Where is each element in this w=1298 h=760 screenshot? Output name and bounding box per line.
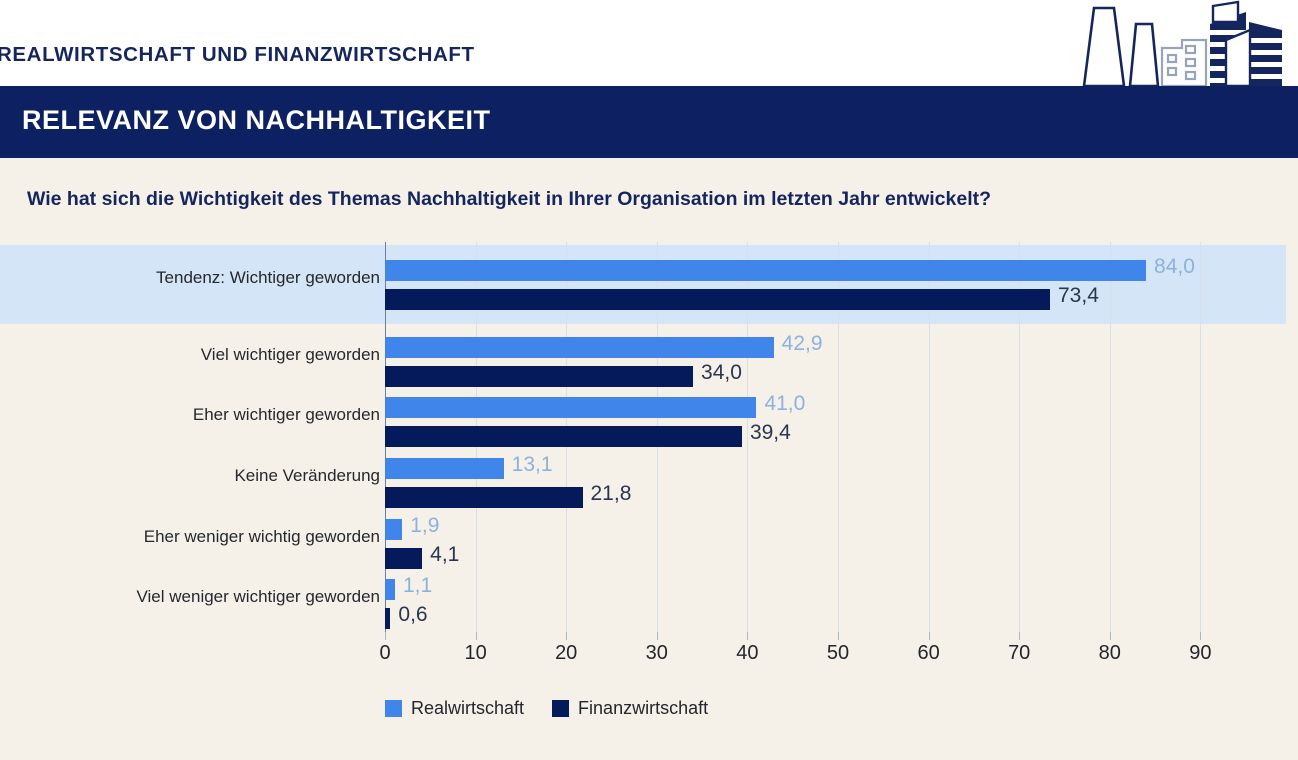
x-tick-label-70: 70 <box>1008 642 1030 665</box>
legend-swatch-icon <box>385 700 402 717</box>
axis-tick-40 <box>747 632 748 640</box>
bar-real <box>385 519 402 540</box>
axis-tick-30 <box>657 632 658 640</box>
legend-swatch-icon <box>552 700 569 717</box>
bar-chart: 0102030405060708090%84,042,941,013,11,91… <box>0 242 1298 682</box>
bar-real <box>385 397 756 418</box>
bar-value-label: 73,4 <box>1058 284 1099 308</box>
bar-finanz <box>385 426 742 447</box>
axis-tick-0 <box>385 632 386 640</box>
category-label: Eher weniger wichtig geworden <box>144 527 380 547</box>
bar-value-label: 42,9 <box>782 332 823 356</box>
bar-real <box>385 260 1146 281</box>
bar-real <box>385 458 504 479</box>
category-label: Tendenz: Wichtiger geworden <box>156 268 380 288</box>
bar-real <box>385 579 395 600</box>
x-tick-label-80: 80 <box>1099 642 1121 665</box>
bar-value-label: 0,6 <box>398 603 427 627</box>
gridline-80 <box>1110 242 1111 632</box>
bar-value-label: 84,0 <box>1154 255 1195 279</box>
industry-skyline-icon <box>1050 0 1290 86</box>
category-label: Viel wichtiger geworden <box>201 345 380 365</box>
bar-value-label: 1,1 <box>403 574 432 598</box>
page-title: RELEVANZ VON NACHHALTIGKEIT <box>22 105 491 136</box>
x-tick-label-90: 90 <box>1189 642 1211 665</box>
bar-value-label: 34,0 <box>701 361 742 385</box>
x-tick-label-60: 60 <box>917 642 939 665</box>
axis-tick-10 <box>476 632 477 640</box>
bar-finanz <box>385 366 693 387</box>
category-label: Keine Veränderung <box>234 466 380 486</box>
legend-item[interactable]: Finanzwirtschaft <box>552 698 708 719</box>
bar-finanz <box>385 548 422 569</box>
bar-real <box>385 337 774 358</box>
x-tick-label-20: 20 <box>555 642 577 665</box>
bar-value-label: 13,1 <box>512 453 553 477</box>
bar-finanz <box>385 608 390 629</box>
bar-value-label: 41,0 <box>764 392 805 416</box>
axis-tick-90 <box>1200 632 1201 640</box>
axis-tick-70 <box>1019 632 1020 640</box>
header-top-bar: REALWIRTSCHAFT UND FINANZWIRTSCHAFT <box>0 0 1298 86</box>
bar-value-label: 4,1 <box>430 543 459 567</box>
x-tick-label-50: 50 <box>827 642 849 665</box>
chart-legend: RealwirtschaftFinanzwirtschaft <box>385 698 708 719</box>
bar-value-label: 39,4 <box>750 421 791 445</box>
category-label: Eher wichtiger geworden <box>193 405 380 425</box>
gridline-90 <box>1200 242 1201 632</box>
x-tick-label-30: 30 <box>646 642 668 665</box>
section-banner: RELEVANZ VON NACHHALTIGKEIT <box>0 86 1298 158</box>
bar-value-label: 21,8 <box>591 482 632 506</box>
legend-label: Realwirtschaft <box>411 698 524 719</box>
x-tick-label-0: 0 <box>379 642 390 665</box>
axis-tick-60 <box>929 632 930 640</box>
legend-item[interactable]: Realwirtschaft <box>385 698 524 719</box>
header-kicker: REALWIRTSCHAFT UND FINANZWIRTSCHAFT <box>0 43 475 67</box>
bar-finanz <box>385 289 1050 310</box>
axis-tick-80 <box>1110 632 1111 640</box>
x-tick-label-40: 40 <box>736 642 758 665</box>
survey-question: Wie hat sich die Wichtigkeit des Themas … <box>27 188 991 211</box>
x-tick-label-10: 10 <box>464 642 486 665</box>
category-label: Viel weniger wichtiger geworden <box>137 587 381 607</box>
bar-finanz <box>385 487 583 508</box>
bar-value-label: 1,9 <box>410 514 439 538</box>
plot-area: 0102030405060708090%84,042,941,013,11,91… <box>385 242 1298 642</box>
axis-tick-50 <box>838 632 839 640</box>
axis-tick-20 <box>566 632 567 640</box>
legend-label: Finanzwirtschaft <box>578 698 708 719</box>
